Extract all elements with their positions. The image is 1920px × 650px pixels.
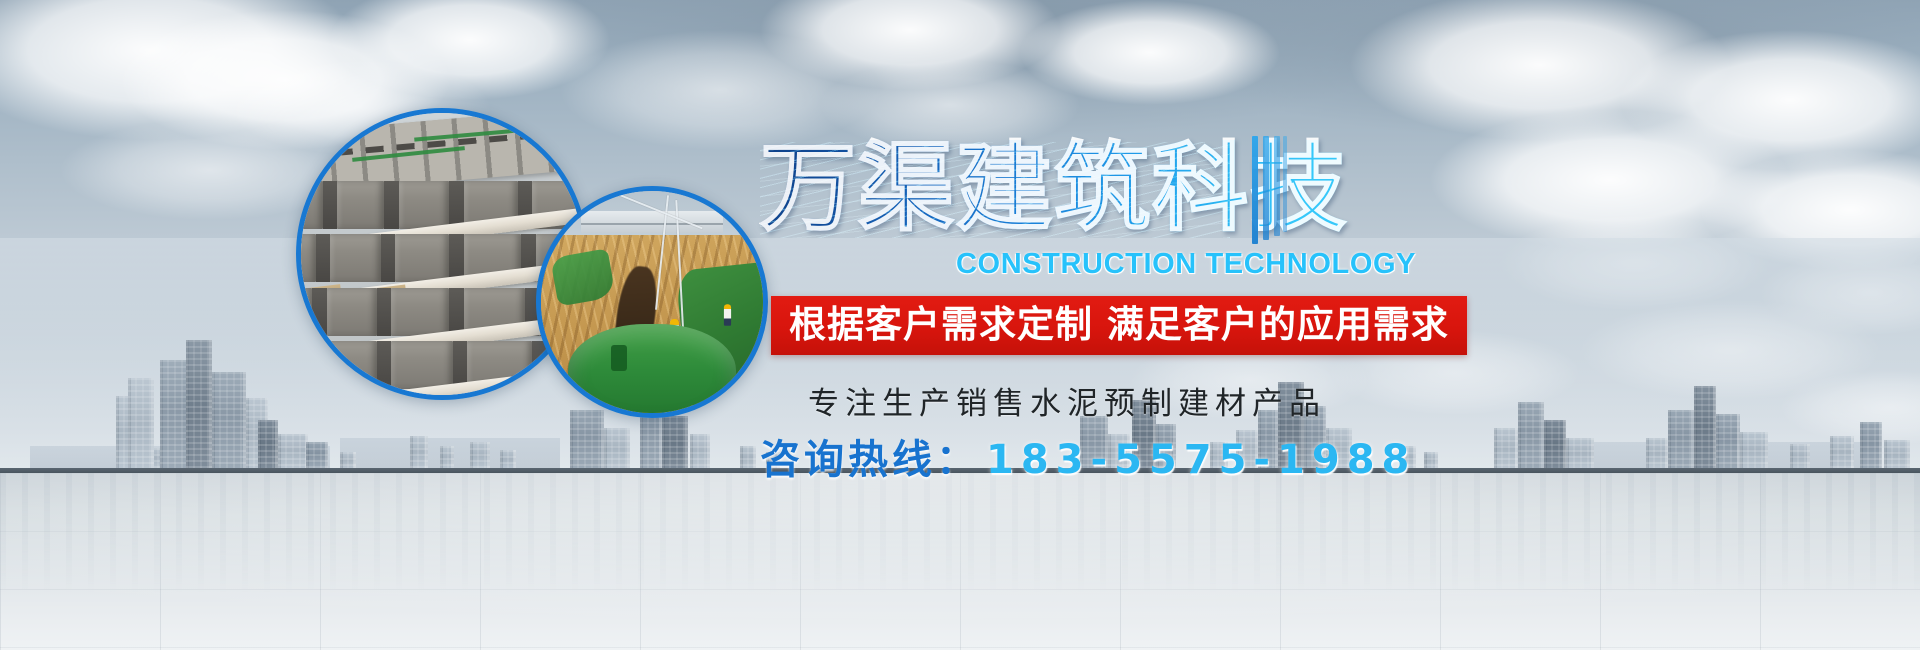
hotline-label: 咨询热线： — [760, 437, 980, 483]
vertical-bars-decoration — [1252, 136, 1288, 244]
company-subtitle-english: CONSTRUCTION TECHNOLOGY — [956, 248, 1416, 281]
hotline-number[interactable]: 183-5575-1988 — [986, 437, 1416, 483]
photo-circle-septic-tank — [536, 186, 768, 418]
slogan-red-banner: 根据客户需求定制 满足客户的应用需求 — [771, 296, 1467, 355]
banner-text-block: 万渠建筑科技 CONSTRUCTION TECHNOLOGY 根据客户需求定制 … — [760, 120, 1770, 520]
slogan-text: 根据客户需求定制 满足客户的应用需求 — [789, 305, 1449, 344]
promo-banner: 万渠建筑科技 CONSTRUCTION TECHNOLOGY 根据客户需求定制 … — [0, 0, 1920, 650]
tagline-text: 专注生产销售水泥预制建材产品 — [808, 378, 1326, 423]
hotline-row: 咨询热线：183-5575-1988 — [760, 438, 1416, 482]
septic-tank-installation-image — [541, 191, 763, 413]
